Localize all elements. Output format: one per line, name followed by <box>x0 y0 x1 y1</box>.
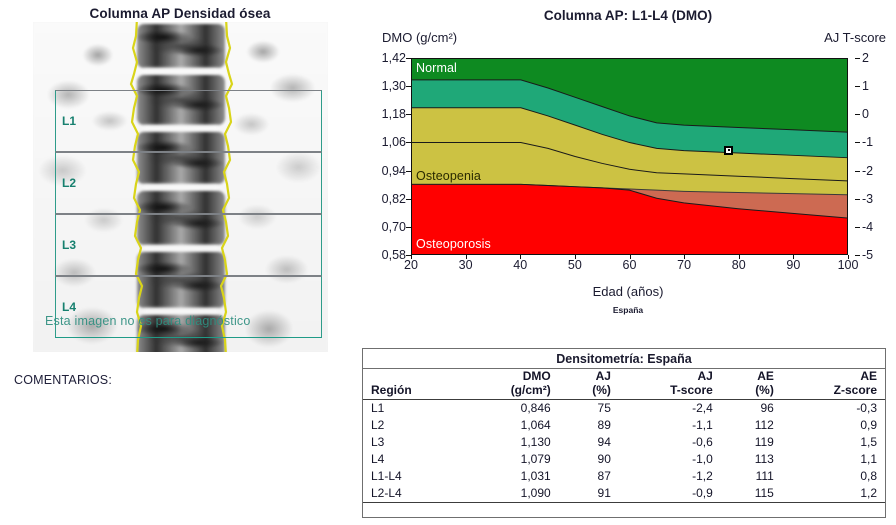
x-tick-mark <box>466 255 467 259</box>
cell-aj-pct: 89 <box>559 417 619 434</box>
results-table: Densitometría: España Región DMO (g/cm²)… <box>362 348 886 518</box>
table-row[interactable]: L10,84675-2,496-0,3 <box>363 400 885 418</box>
cell-region: L2-L4 <box>363 485 461 503</box>
roi-box-l2[interactable]: L2 <box>55 152 322 214</box>
cell-ae-pct: 119 <box>721 434 782 451</box>
cell-ae-pct: 113 <box>721 451 782 468</box>
y-tick-label: 1,18 <box>382 107 406 121</box>
table-row[interactable]: L41,07990-1,01131,1 <box>363 451 885 468</box>
densitometry-table: Región DMO (g/cm²) AJ (%) AJ T-score AE … <box>363 369 885 505</box>
comments-label: COMENTARIOS: <box>14 373 112 387</box>
y2-tick-mark <box>855 86 860 87</box>
x-tick-label: 60 <box>623 258 637 272</box>
cell-dmo: 1,031 <box>461 468 558 485</box>
cell-aj-pct: 75 <box>559 400 619 418</box>
dxa-scan-image[interactable]: L1 L2 L3 L4 Esta imagen no es para diagn… <box>33 22 328 352</box>
cell-aj-pct: 90 <box>559 451 619 468</box>
y-tick-label: 1,42 <box>382 51 406 65</box>
cell-region: L1-L4 <box>363 468 461 485</box>
y-tick-label: 1,30 <box>382 79 406 93</box>
x-tick-label: 90 <box>786 258 800 272</box>
roi-label-l2: L2 <box>62 176 76 190</box>
x-tick-mark <box>684 255 685 259</box>
table-foot <box>363 503 885 506</box>
y-tick-label: 0,82 <box>382 192 406 206</box>
scan-title: Columna AP Densidad ósea <box>0 6 360 21</box>
y-tick-label: 0,58 <box>382 248 406 262</box>
roi-box-l1[interactable]: L1 <box>55 90 322 152</box>
col-aj-pct: AJ (%) <box>559 369 619 397</box>
y2-tick-label: -1 <box>862 135 873 149</box>
roi-label-l3: L3 <box>62 238 76 252</box>
cell-aj-pct: 94 <box>559 434 619 451</box>
y2-tick-mark <box>855 142 860 143</box>
y-axis-right: 210-1-2-3-4-5 <box>853 0 895 330</box>
cell-aj-pct: 87 <box>559 468 619 485</box>
rule-cell <box>363 503 885 506</box>
cell-ae-pct: 112 <box>721 417 782 434</box>
y-tick-label: 0,94 <box>382 164 406 178</box>
x-tick-label: 80 <box>732 258 746 272</box>
cell-ae-zscore: 1,2 <box>782 485 885 503</box>
table-head: Región DMO (g/cm²) AJ (%) AJ T-score AE … <box>363 369 885 400</box>
cell-aj-tscore: -1,0 <box>619 451 721 468</box>
y2-tick-mark <box>855 114 860 115</box>
y-tick-label: 1,06 <box>382 135 406 149</box>
table-row[interactable]: L31,13094-0,61191,5 <box>363 434 885 451</box>
scan-panel: Columna AP Densidad ósea L1 L2 <box>0 0 360 360</box>
y2-tick-label: 0 <box>862 107 869 121</box>
chart-subtitle: España <box>360 305 896 315</box>
x-tick-mark <box>520 255 521 259</box>
roi-label-l1: L1 <box>62 114 76 128</box>
cell-ae-zscore: 1,5 <box>782 434 885 451</box>
y2-tick-label: 1 <box>862 79 869 93</box>
x-tick-mark <box>739 255 740 259</box>
x-tick-label: 40 <box>513 258 527 272</box>
cell-region: L1 <box>363 400 461 418</box>
cell-ae-zscore: 0,8 <box>782 468 885 485</box>
footer-rule <box>363 503 885 506</box>
y-axis-left: 1,421,301,181,060,940,820,700,58 <box>360 0 406 330</box>
cell-aj-pct: 91 <box>559 485 619 503</box>
y2-tick-label: -2 <box>862 164 873 178</box>
x-axis-title: Edad (años) <box>360 284 896 299</box>
cell-dmo: 1,090 <box>461 485 558 503</box>
x-tick-mark <box>793 255 794 259</box>
x-tick-label: 30 <box>459 258 473 272</box>
bmd-reference-chart: Columna AP: L1-L4 (DMO) DMO (g/cm²) AJ T… <box>360 0 896 330</box>
y2-tick-label: -4 <box>862 220 873 234</box>
cell-ae-zscore: 1,1 <box>782 451 885 468</box>
not-for-diagnosis-notice: Esta imagen no es para diagnóstico <box>45 314 251 328</box>
cell-ae-pct: 96 <box>721 400 782 418</box>
chart-title: Columna AP: L1-L4 (DMO) <box>360 8 896 23</box>
col-ae-zscore: AE Z-score <box>782 369 885 397</box>
cell-aj-tscore: -0,9 <box>619 485 721 503</box>
cell-dmo: 1,079 <box>461 451 558 468</box>
y2-tick-mark <box>855 255 860 256</box>
cell-ae-zscore: -0,3 <box>782 400 885 418</box>
chart-plot-area[interactable]: Normal Osteopenia Osteoporosis <box>411 58 848 255</box>
cell-aj-tscore: -1,1 <box>619 417 721 434</box>
cell-region: L2 <box>363 417 461 434</box>
cell-ae-zscore: 0,9 <box>782 417 885 434</box>
y-tick-label: 0,70 <box>382 220 406 234</box>
x-tick-label: 70 <box>677 258 691 272</box>
y2-tick-mark <box>855 58 860 59</box>
col-region: Región <box>363 369 461 397</box>
x-tick-mark <box>575 255 576 259</box>
roi-box-l3[interactable]: L3 <box>55 214 322 276</box>
table-body: L10,84675-2,496-0,3L21,06489-1,11120,9L3… <box>363 400 885 503</box>
cell-aj-tscore: -0,6 <box>619 434 721 451</box>
y2-tick-label: -5 <box>862 248 873 262</box>
cell-aj-tscore: -1,2 <box>619 468 721 485</box>
chart-zones <box>412 59 847 254</box>
y2-tick-mark <box>855 199 860 200</box>
roi-label-l4: L4 <box>62 300 76 314</box>
patient-data-point[interactable] <box>724 146 733 155</box>
cell-region: L3 <box>363 434 461 451</box>
y2-tick-mark <box>855 171 860 172</box>
cell-dmo: 1,064 <box>461 417 558 434</box>
col-aj-tscore: AJ T-score <box>619 369 721 397</box>
cell-ae-pct: 111 <box>721 468 782 485</box>
table-caption: Densitometría: España <box>363 349 885 369</box>
table-row[interactable]: L21,06489-1,11120,9 <box>363 417 885 434</box>
x-tick-mark <box>411 255 412 259</box>
roi-box-l4[interactable]: L4 <box>55 276 322 338</box>
x-tick-mark <box>630 255 631 259</box>
table-row[interactable]: L1-L41,03187-1,21110,8 <box>363 468 885 485</box>
table-row[interactable]: L2-L41,09091-0,91151,2 <box>363 485 885 503</box>
cell-aj-tscore: -2,4 <box>619 400 721 418</box>
cell-dmo: 0,846 <box>461 400 558 418</box>
cell-ae-pct: 115 <box>721 485 782 503</box>
x-tick-label: 50 <box>568 258 582 272</box>
y2-tick-label: -3 <box>862 192 873 206</box>
x-tick-label: 20 <box>404 258 418 272</box>
cell-region: L4 <box>363 451 461 468</box>
col-dmo: DMO (g/cm²) <box>461 369 558 397</box>
cell-dmo: 1,130 <box>461 434 558 451</box>
col-ae-pct: AE (%) <box>721 369 782 397</box>
y2-tick-mark <box>855 227 860 228</box>
y2-tick-label: 2 <box>862 51 869 65</box>
x-tick-mark <box>848 255 849 259</box>
table-header-row: Región DMO (g/cm²) AJ (%) AJ T-score AE … <box>363 369 885 397</box>
x-tick-label: 100 <box>838 258 859 272</box>
roi-layer: L1 L2 L3 L4 <box>33 22 328 352</box>
